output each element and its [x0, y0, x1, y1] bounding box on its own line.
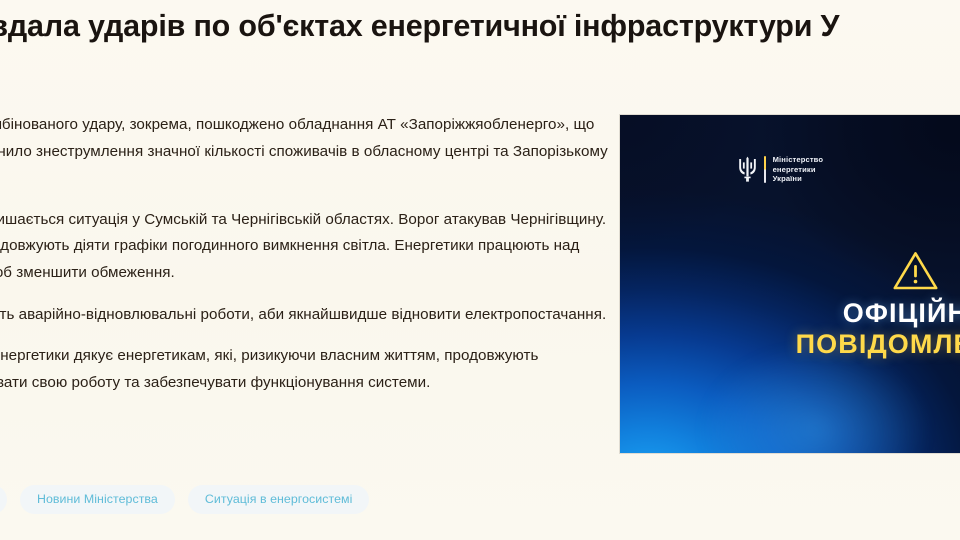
page-title: завдала ударів по об'єктах енергетичної …	[0, 6, 960, 46]
article-image: Міністерство енергетики України ОФІЦІЙНЕ…	[620, 115, 960, 453]
tag-list: и Новини Міністерства Ситуація в енергос…	[0, 485, 369, 514]
trident-icon	[738, 156, 757, 182]
tag-chip-partial[interactable]: и	[0, 485, 7, 514]
banner-alert-block: ОФІЦІЙНЕ ПОВІДОМЛЕННЯ	[790, 250, 960, 359]
banner-headline-primary: ОФІЦІЙНЕ	[790, 298, 960, 328]
article-body: док комбінованого удару, зокрема, пошкод…	[0, 112, 608, 396]
warning-triangle-icon	[790, 250, 960, 291]
banner-headline-secondary: ПОВІДОМЛЕННЯ	[790, 329, 960, 359]
ministry-logo: Міністерство енергетики України	[738, 155, 823, 184]
article-paragraph: рство енергетики дякує енергетикам, які,…	[0, 343, 608, 396]
page-root: завдала ударів по об'єктах енергетичної …	[0, 0, 960, 540]
article-paragraph: тривають аварійно-відновлювальні роботи,…	[0, 302, 608, 329]
article-paragraph: ою залишається ситуація у Сумській та Че…	[0, 207, 608, 287]
tag-chip-energy-system-situation[interactable]: Ситуація в енергосистемі	[188, 485, 370, 514]
logo-divider	[764, 156, 766, 183]
logo-line-3: України	[773, 174, 824, 184]
logo-line-2: енергетики	[773, 165, 824, 175]
article-paragraph: док комбінованого удару, зокрема, пошкод…	[0, 112, 608, 192]
logo-wordmark: Міністерство енергетики України	[773, 155, 824, 184]
logo-line-1: Міністерство	[773, 155, 824, 165]
tag-chip-ministry-news[interactable]: Новини Міністерства	[20, 485, 175, 514]
